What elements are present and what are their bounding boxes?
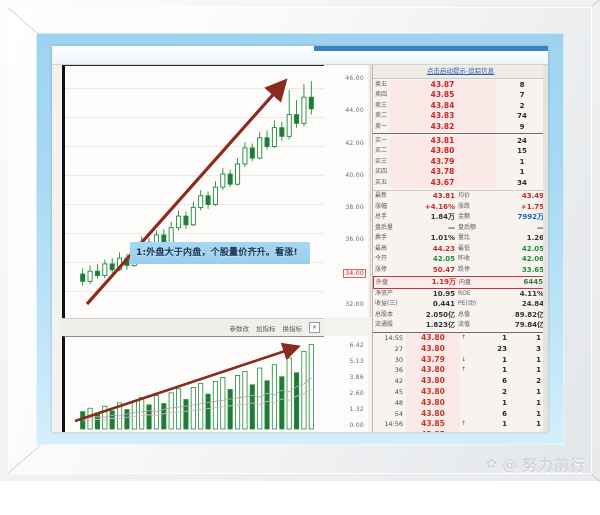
- ask-level-price: 43.84: [389, 101, 496, 111]
- quote-stat-key: 外盘: [374, 277, 402, 288]
- tick-volume: 6: [467, 376, 507, 387]
- arrow-up-icon: ↑: [460, 419, 467, 430]
- price-axis-tick: 44.00: [345, 107, 364, 114]
- quote-stat-key: 最高: [373, 244, 401, 255]
- price-axis-tick: 32.00: [345, 301, 364, 308]
- bid-level-qty: 1: [496, 167, 548, 177]
- tick-price: 43.80: [406, 409, 460, 420]
- quote-stat-row: 最高44.23最低42.05: [373, 244, 548, 255]
- bid-levels: 买一43.8124买二43.8015买三43.791买四43.781买五43.6…: [373, 135, 548, 188]
- stock-terminal-screenshot: 46.0044.0042.0040.0038.0036.0034.0032.00…: [52, 46, 548, 432]
- quote-stat-key: 收益(三): [373, 299, 401, 310]
- tick-price: 43.85: [406, 430, 460, 432]
- tick-time: 14:56: [373, 419, 406, 430]
- tick-price: 43.80: [406, 333, 460, 344]
- tick-volume: 1: [467, 333, 507, 344]
- ask-level-label: 卖一: [373, 122, 389, 132]
- tick-time: 36: [373, 365, 406, 376]
- quote-stat-value-2: 24.84: [484, 299, 548, 310]
- volume-toolbar-item-2[interactable]: 换指标: [283, 323, 303, 333]
- quote-stat-key-2: 最低: [458, 244, 484, 255]
- paw-icon: ✿: [486, 457, 498, 472]
- quote-stat-key-2: PE(动): [458, 299, 484, 310]
- bid-level-row[interactable]: 买一43.8124: [373, 136, 548, 146]
- price-axis: 46.0044.0042.0040.0038.0036.0034.0032.00: [324, 65, 368, 317]
- quote-stat-key-2: 跌停: [458, 265, 484, 276]
- quote-panel[interactable]: 点击启动提示-追踪信息 卖五43.878卖四43.857卖三43.842卖二43…: [372, 65, 548, 432]
- bid-level-price: 43.67: [389, 178, 496, 188]
- volume-toolbar-item-1[interactable]: 加指标: [256, 323, 276, 333]
- quote-stat-key: 总手: [373, 212, 401, 223]
- trade-tick-row[interactable]: 2743.80233: [373, 344, 548, 355]
- trade-tick-row[interactable]: 14:5543.80↑11: [373, 333, 548, 344]
- quote-stat-key: 流通股: [373, 320, 401, 331]
- bid-level-row[interactable]: 买三43.791: [373, 157, 548, 167]
- price-axis-tick: 36.00: [345, 236, 364, 243]
- ask-level-row[interactable]: 卖一43.829: [373, 122, 548, 132]
- tick-price: 43.80: [406, 344, 460, 355]
- quote-stat-value: 43.81: [401, 191, 458, 202]
- tick-price: 43.79: [406, 355, 460, 366]
- ask-level-label: 卖五: [373, 80, 389, 90]
- quote-stat-row: 最新43.81均价43.49: [373, 191, 548, 202]
- trade-tick-list[interactable]: 14:5543.80↑112743.802333043.79↓113643.80…: [373, 332, 548, 432]
- ask-level-qty: 74: [496, 111, 548, 121]
- tick-count: 2: [507, 430, 547, 432]
- price-axis-tick: 34.00: [343, 269, 366, 278]
- ask-level-row[interactable]: 卖三43.842: [373, 101, 548, 111]
- bid-ask-divider: [373, 133, 548, 134]
- photo-frame-outer: 46.0044.0042.0040.0038.0036.0034.0032.00…: [0, 0, 600, 481]
- quote-stat-value: 10.95: [401, 289, 458, 300]
- tick-volume: 2: [467, 387, 507, 398]
- quote-stat-value-2: 4.11%: [484, 289, 548, 300]
- quote-stat-key-2: 流值: [458, 320, 484, 331]
- trade-tick-row[interactable]: 0343.8522: [373, 430, 548, 432]
- bid-level-price: 43.79: [389, 157, 496, 167]
- ask-level-qty: 7: [496, 90, 548, 100]
- tick-price: 43.80: [406, 365, 460, 376]
- price-axis-tick: 42.00: [345, 140, 364, 147]
- watermark-at: @: [502, 456, 518, 474]
- volume-axis-tick: 3.86: [349, 374, 364, 381]
- bid-level-qty: 34: [496, 178, 548, 188]
- quote-stat-key: 涨停: [373, 265, 401, 276]
- quote-stat-row: 外盘1.19万内盘6445: [373, 276, 548, 289]
- quote-stat-value-2: 6445: [485, 277, 547, 288]
- quote-stat-value: 1.823亿: [401, 320, 458, 331]
- volume-toolbar[interactable]: 参数改 加指标 换指标 ×: [62, 318, 324, 336]
- tick-volume: 1: [467, 398, 507, 409]
- price-axis-tick: 38.00: [345, 204, 364, 211]
- quote-stat-key-2: 涨跌: [458, 202, 484, 213]
- bid-level-price: 43.81: [389, 136, 496, 146]
- ask-level-row[interactable]: 卖二43.8374: [373, 111, 548, 121]
- watermark: ✿ @ 努力前行: [486, 454, 586, 475]
- volume-axis-tick: 2.60: [349, 390, 364, 397]
- tick-count: 1: [507, 365, 547, 376]
- bid-level-qty: 24: [496, 136, 548, 146]
- annotation-callout: 1:外盘大于内盘，个股量价齐升。看涨!: [130, 242, 310, 264]
- tick-time: 30: [373, 355, 406, 366]
- ask-level-qty: 8: [496, 80, 548, 90]
- quote-stat-row: 总股本2.050亿总值89.82亿: [373, 310, 548, 321]
- close-icon[interactable]: ×: [309, 322, 320, 333]
- ask-levels: 卖五43.878卖四43.857卖三43.842卖二43.8374卖一43.82…: [373, 79, 548, 132]
- tick-price: 43.80: [406, 376, 460, 387]
- quote-stat-key-2: 昨收: [458, 254, 484, 265]
- quote-stat-row: 总手1.84万金额7992万: [373, 212, 548, 223]
- bid-level-qty: 15: [496, 146, 548, 156]
- uptrend-arrow-icon: [65, 66, 327, 318]
- trade-tick-row[interactable]: 5443.8061: [373, 409, 548, 420]
- quote-stat-row: 净资产10.95ROE4.11%: [373, 289, 548, 300]
- volume-uptrend-arrow-icon: [65, 337, 327, 432]
- quote-stat-value: 1.84万: [401, 212, 458, 223]
- quote-stat-value-2: 1.26: [484, 233, 548, 244]
- trade-tick-row[interactable]: 4543.8021: [373, 387, 548, 398]
- ask-level-label: 卖三: [373, 101, 389, 111]
- tick-time: 54: [373, 409, 406, 420]
- bid-level-label: 买四: [373, 167, 389, 177]
- quote-stat-key: 今开: [373, 254, 401, 265]
- volume-axis-tick: 6.42: [349, 342, 364, 349]
- quote-stat-row: 涨停50.47跌停33.65: [373, 265, 548, 276]
- tick-count: 1: [507, 387, 547, 398]
- tick-time: 45: [373, 387, 406, 398]
- bid-level-row[interactable]: 买四43.781: [373, 167, 548, 177]
- arrow-up-icon: ↑: [460, 365, 467, 376]
- volume-toolbar-item-0[interactable]: 参数改: [230, 323, 250, 333]
- ask-level-price: 43.85: [389, 90, 496, 100]
- quote-stat-row: 流通股1.823亿流值79.84亿: [373, 320, 548, 331]
- quote-stat-key: 盘后量: [373, 223, 401, 234]
- price-chart[interactable]: [62, 65, 327, 318]
- app-top-strip: [52, 46, 548, 65]
- quote-stat-key: 总股本: [373, 310, 401, 321]
- quote-stat-value-2: 33.65: [484, 265, 548, 276]
- arrow-up-icon: ↑: [460, 333, 467, 344]
- tick-volume: 1: [467, 365, 507, 376]
- quote-stat-value: —: [401, 223, 458, 234]
- ask-level-price: 43.82: [389, 122, 496, 132]
- quote-stat-key-2: ROE: [458, 289, 484, 300]
- price-axis-tick: 46.00: [345, 75, 364, 82]
- trading-app: 46.0044.0042.0040.0038.0036.0034.0032.00…: [52, 46, 548, 432]
- tick-time: 03: [373, 430, 406, 432]
- volume-axis-tick: 1.32: [349, 406, 364, 413]
- tick-price: 43.80: [406, 398, 460, 409]
- tick-time: 42: [373, 376, 406, 387]
- tick-volume: 1: [467, 419, 507, 430]
- bid-level-label: 买一: [373, 136, 389, 146]
- scrollbar[interactable]: [543, 65, 548, 432]
- quote-stat-row: 涨幅+4.16%涨跌+1.75: [373, 202, 548, 213]
- quote-stat-value-2: 42.05: [484, 244, 548, 255]
- quote-stat-value-2: 89.82亿: [484, 310, 548, 321]
- bid-level-price: 43.78: [389, 167, 496, 177]
- quote-stat-value: +4.16%: [401, 202, 458, 213]
- trade-tick-row[interactable]: 3043.79↓11: [373, 355, 548, 366]
- quote-stat-key: 最新: [373, 191, 401, 202]
- tick-volume: 2: [467, 430, 507, 432]
- quote-stat-value: 50.47: [401, 265, 458, 276]
- quote-panel-header[interactable]: 点击启动提示-追踪信息: [373, 65, 548, 79]
- quote-stat-key-2: 均价: [458, 191, 484, 202]
- tick-time: 48: [373, 398, 406, 409]
- tick-count: 1: [507, 355, 547, 366]
- bid-level-label: 买三: [373, 157, 389, 167]
- ask-level-row[interactable]: 卖四43.857: [373, 90, 548, 100]
- tick-count: 2: [507, 376, 547, 387]
- tick-time: 14:55: [373, 333, 406, 344]
- chart-panel-divider: [370, 65, 371, 317]
- price-axis-tick: 40.00: [345, 172, 364, 179]
- tick-volume: 1: [467, 355, 507, 366]
- watermark-name: 努力前行: [522, 454, 586, 475]
- ask-level-label: 卖四: [373, 90, 389, 100]
- quote-stat-value-2: 7992万: [484, 212, 548, 223]
- quote-stat-value: 1.19万: [402, 277, 459, 288]
- ask-level-price: 43.83: [389, 111, 496, 121]
- tick-count: 1: [507, 409, 547, 420]
- ask-level-qty: 2: [496, 101, 548, 111]
- quote-statistics: 最新43.81均价43.49涨幅+4.16%涨跌+1.75总手1.84万金额79…: [373, 190, 548, 331]
- volume-axis-tick: 5.13: [349, 358, 364, 365]
- quote-stat-key-2: 量比: [458, 233, 484, 244]
- trade-tick-row[interactable]: 3643.80↑11: [373, 365, 548, 376]
- ask-level-label: 卖二: [373, 111, 389, 121]
- quote-stat-value: 0.441: [401, 299, 458, 310]
- quote-stat-row: 盘后量—盘后额—: [373, 223, 548, 234]
- quote-stat-value: 1.01%: [401, 233, 458, 244]
- bid-level-price: 43.80: [389, 146, 496, 156]
- trade-tick-row[interactable]: 14:5643.85↑11: [373, 419, 548, 430]
- ask-level-price: 43.87: [389, 80, 496, 90]
- bid-level-row[interactable]: 买二43.8015: [373, 146, 548, 156]
- quote-stat-value-2: —: [484, 223, 548, 234]
- bid-level-row[interactable]: 买五43.6734: [373, 178, 548, 188]
- tick-count: 3: [507, 344, 547, 355]
- quote-stat-value: 2.050亿: [401, 310, 458, 321]
- tick-price: 43.80: [406, 387, 460, 398]
- volume-chart[interactable]: [62, 336, 327, 432]
- trade-tick-row[interactable]: 4243.8062: [373, 376, 548, 387]
- bid-level-qty: 1: [496, 157, 548, 167]
- quote-stat-value: 44.23: [401, 244, 458, 255]
- tick-volume: 6: [467, 409, 507, 420]
- quote-stat-key-2: 盘后额: [458, 223, 484, 234]
- quote-stat-key-2: 总值: [458, 310, 484, 321]
- arrow-down-icon: ↓: [460, 355, 467, 366]
- quote-stat-row: 今开42.05昨收42.06: [373, 254, 548, 265]
- volume-axis: 6.425.133.862.601.320.00: [324, 336, 368, 432]
- ask-level-row[interactable]: 卖五43.878: [373, 80, 548, 90]
- quote-stat-key: 涨幅: [373, 202, 401, 213]
- tick-price: 43.85: [406, 419, 460, 430]
- bid-level-label: 买五: [373, 178, 389, 188]
- panel-title-bar: [314, 46, 548, 51]
- quote-stat-value-2: 43.49: [484, 191, 548, 202]
- quote-stat-value-2: 42.06: [484, 254, 548, 265]
- tick-count: 1: [507, 419, 547, 430]
- bid-level-label: 买二: [373, 146, 389, 156]
- quote-stat-row: 收益(三)0.441PE(动)24.84: [373, 299, 548, 310]
- quote-stat-key-2: 金额: [458, 212, 484, 223]
- quote-stat-value-2: +1.75: [484, 202, 548, 213]
- quote-stat-row: 换手1.01%量比1.26: [373, 233, 548, 244]
- volume-axis-tick: 0.00: [349, 422, 364, 429]
- quote-stat-key: 换手: [373, 233, 401, 244]
- ask-level-qty: 9: [496, 122, 548, 132]
- quote-stat-key: 净资产: [373, 289, 401, 300]
- tick-volume: 23: [467, 344, 507, 355]
- tick-count: 1: [507, 398, 547, 409]
- quote-stat-value: 42.05: [401, 254, 458, 265]
- trade-tick-row[interactable]: 4843.8011: [373, 398, 548, 409]
- quote-stat-value-2: 79.84亿: [484, 320, 548, 331]
- tick-count: 1: [507, 333, 547, 344]
- quote-stat-key-2: 内盘: [459, 277, 485, 288]
- tick-time: 27: [373, 344, 406, 355]
